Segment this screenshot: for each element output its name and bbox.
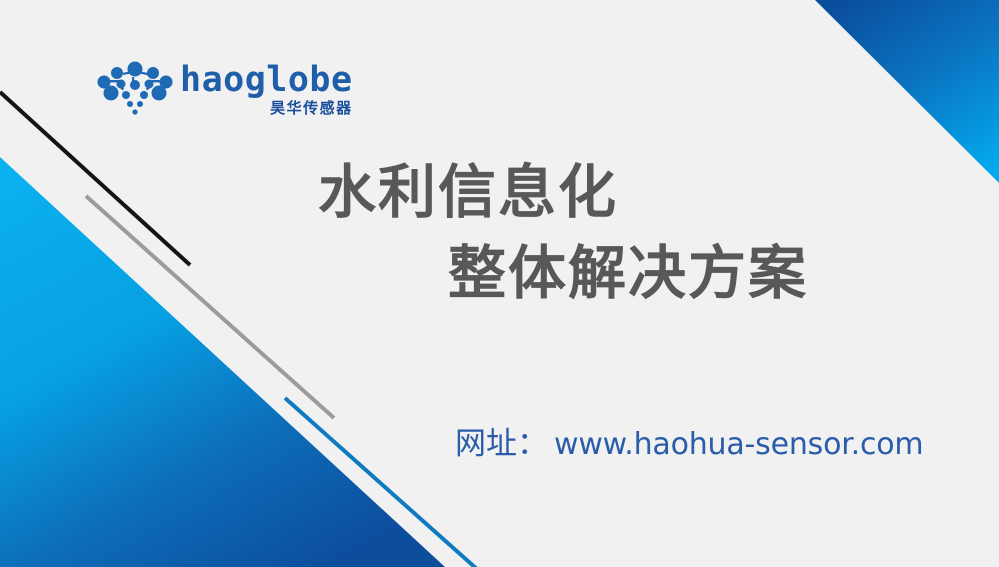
page-title: 水利信息化 整体解决方案 <box>300 160 940 306</box>
title-line-2: 整体解决方案 <box>300 241 940 306</box>
logo-subtitle: 昊华传感器 <box>270 101 353 116</box>
website-url[interactable]: www.haohua-sensor.com <box>554 427 923 462</box>
company-logo: haoglobe 昊华传感器 <box>96 57 326 123</box>
website-line: 网址： www.haohua-sensor.com <box>455 418 923 463</box>
title-line-1: 水利信息化 <box>300 160 940 225</box>
title-slide: haoglobe 昊华传感器 水利信息化 整体解决方案 网址： www.haoh… <box>0 0 999 567</box>
website-label: 网址： <box>455 418 548 463</box>
logo-text-block: haoglobe 昊华传感器 <box>180 64 353 115</box>
logo-wordmark: haoglobe <box>180 64 353 97</box>
molecule-nodes-icon <box>96 60 174 120</box>
